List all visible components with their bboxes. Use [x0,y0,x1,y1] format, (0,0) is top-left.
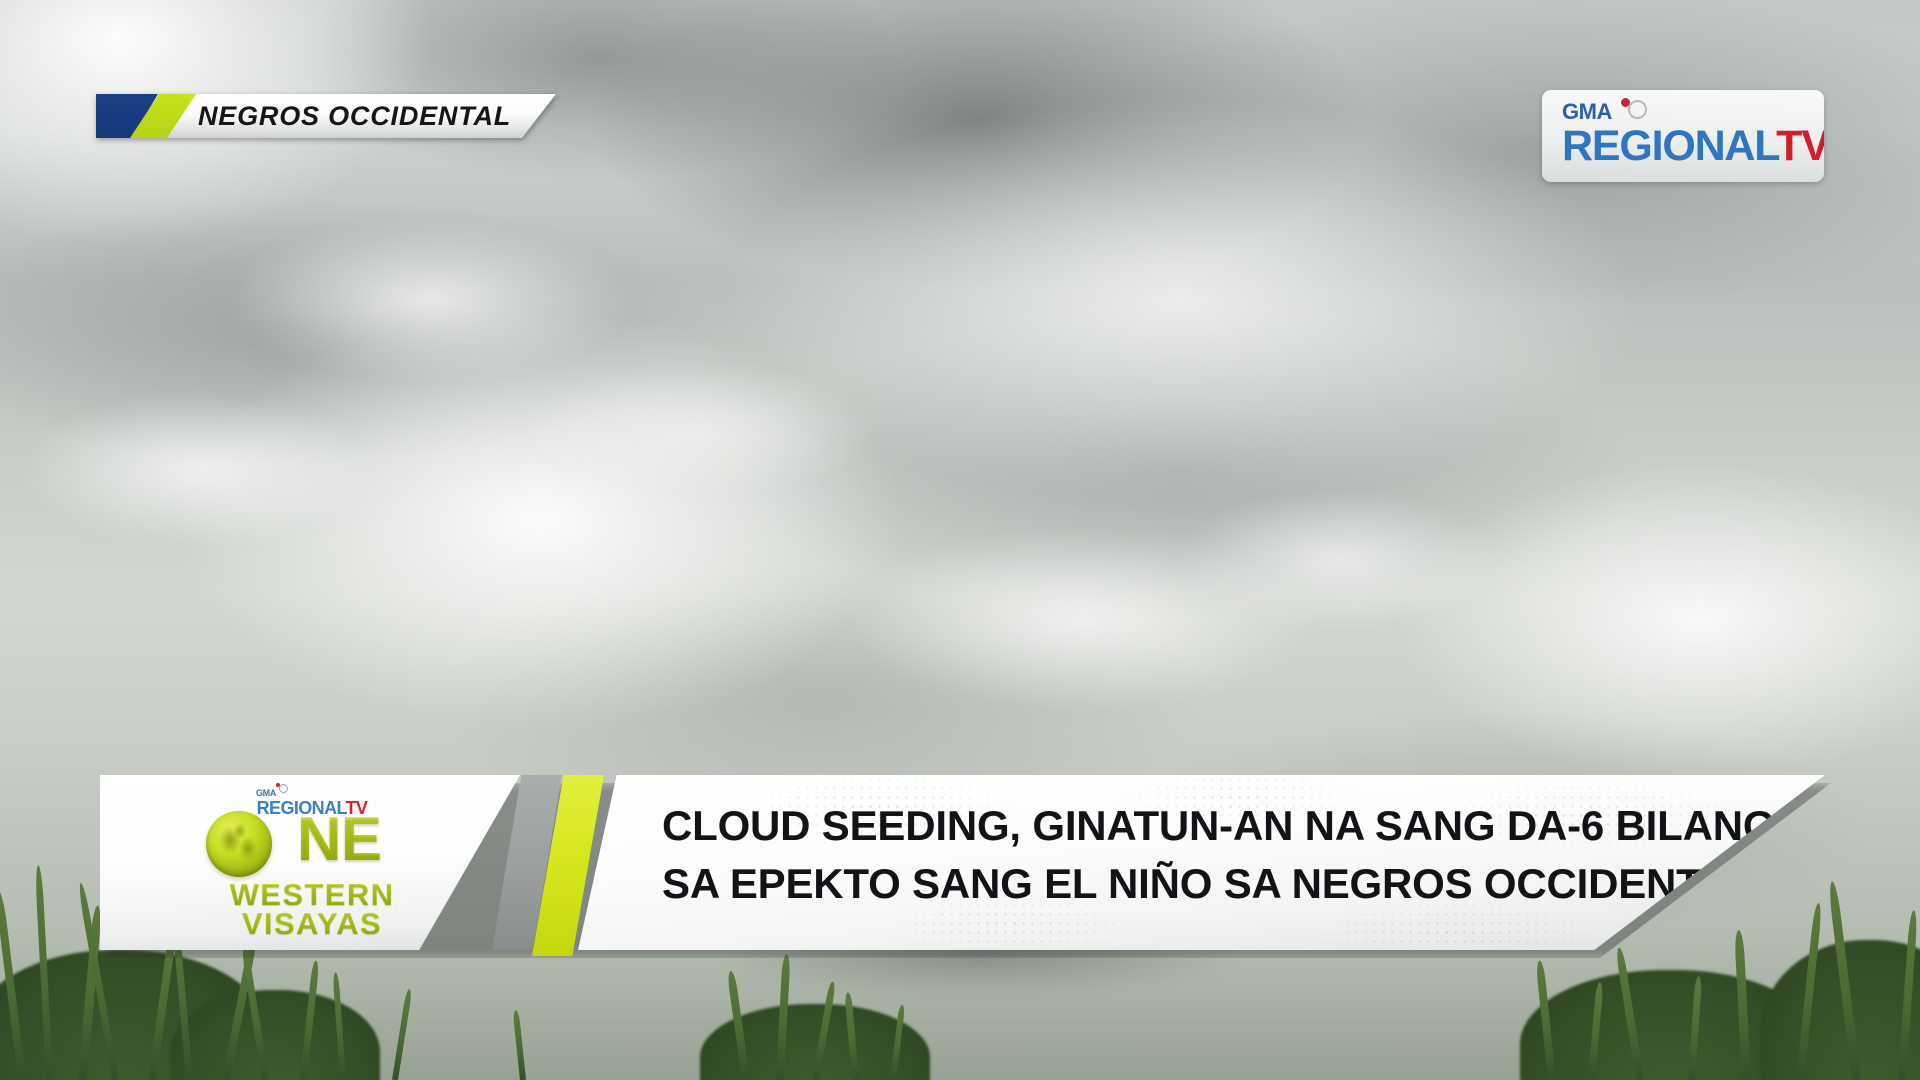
channel-wordmark: REGIONALTV [1562,123,1824,169]
program-logo-ring-icon [279,784,288,793]
channel-logo-inner: GMA REGIONALTV [1562,99,1824,169]
location-banner: NEGROS OCCIDENTAL [96,94,556,138]
one-western-visayas-logo: GMA REGIONALTV NE WESTERN VISAYAS [172,783,452,943]
gma-wordmark: GMA [1562,99,1612,124]
lower-third-banner: GMA REGIONALTV NE WESTERN VISAYAS [100,775,1825,950]
program-title-one: NE [297,807,381,873]
headline-line-1: CLOUD SEEDING, GINATUN-AN NA SANG DA-6 B… [662,797,1802,855]
program-logo-gma-row: GMA REGIONALTV [212,783,412,805]
tv-wordmark: TV [1776,122,1824,170]
headline-line-2: SA EPEKTO SANG EL NIÑO SA NEGROS OCCIDEN… [662,855,1802,913]
program-logo-gma-wordmark: GMA [256,788,276,798]
gma-ring-icon [1628,100,1647,119]
broadcast-frame: NEGROS OCCIDENTAL GMA REGIONALTV GMA [0,0,1920,1080]
program-title-visayas: VISAYAS [172,908,452,940]
program-title-one-row: NE [172,807,452,879]
gma-wordmark-row: GMA [1562,99,1824,125]
regional-wordmark: REGIONAL [1562,122,1776,170]
globe-icon [206,811,272,877]
channel-logo-bug: GMA REGIONALTV [1542,90,1824,182]
headline-text: CLOUD SEEDING, GINATUN-AN NA SANG DA-6 B… [662,797,1802,913]
location-label: NEGROS OCCIDENTAL [198,94,511,138]
